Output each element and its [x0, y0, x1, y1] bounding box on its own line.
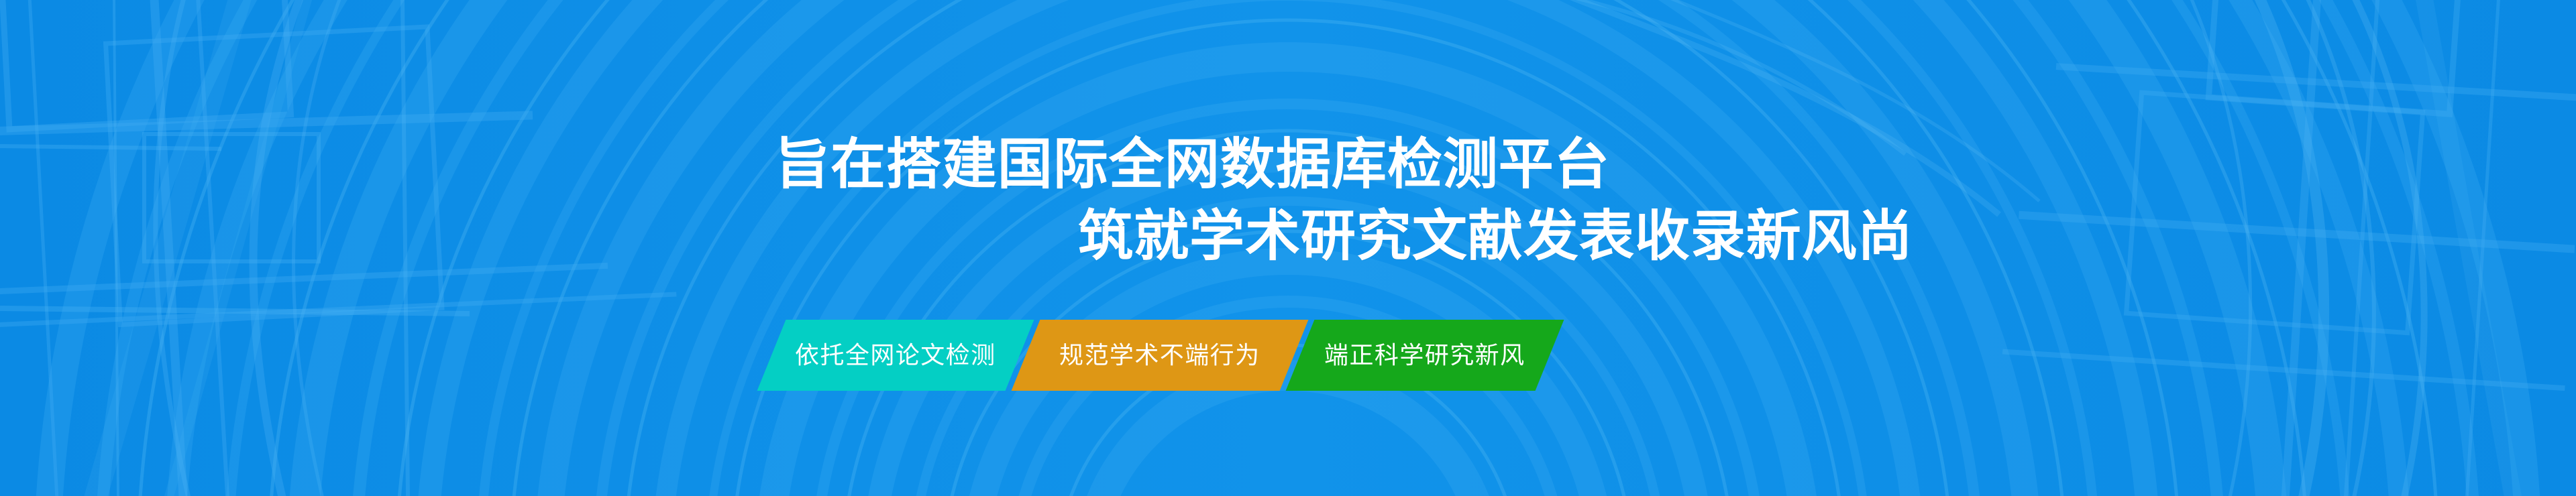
promo-banner: 旨在搭建国际全网数据库检测平台 筑就学术研究文献发表收录新风尚 依托全网论文检测…: [0, 0, 2576, 496]
feature-badge-plagiarism-detection[interactable]: 依托全网论文检测: [757, 320, 1034, 391]
feature-badge-strip: 依托全网论文检测 规范学术不端行为 端正科学研究新风: [771, 320, 1808, 391]
feature-badge-label: 依托全网论文检测: [795, 343, 996, 367]
headline-line-2: 筑就学术研究文献发表收录新风尚: [1078, 206, 1913, 267]
feature-badge-academic-misconduct[interactable]: 规范学术不端行为: [1012, 320, 1309, 391]
feature-badge-research-ethics[interactable]: 端正科学研究新风: [1286, 320, 1564, 391]
feature-badge-label: 端正科学研究新风: [1324, 343, 1525, 367]
feature-badge-label: 规范学术不端行为: [1059, 343, 1260, 367]
headline-line-1: 旨在搭建国际全网数据库检测平台: [775, 134, 1610, 196]
headline-group: 旨在搭建国际全网数据库检测平台 筑就学术研究文献发表收录新风尚: [0, 0, 2576, 496]
